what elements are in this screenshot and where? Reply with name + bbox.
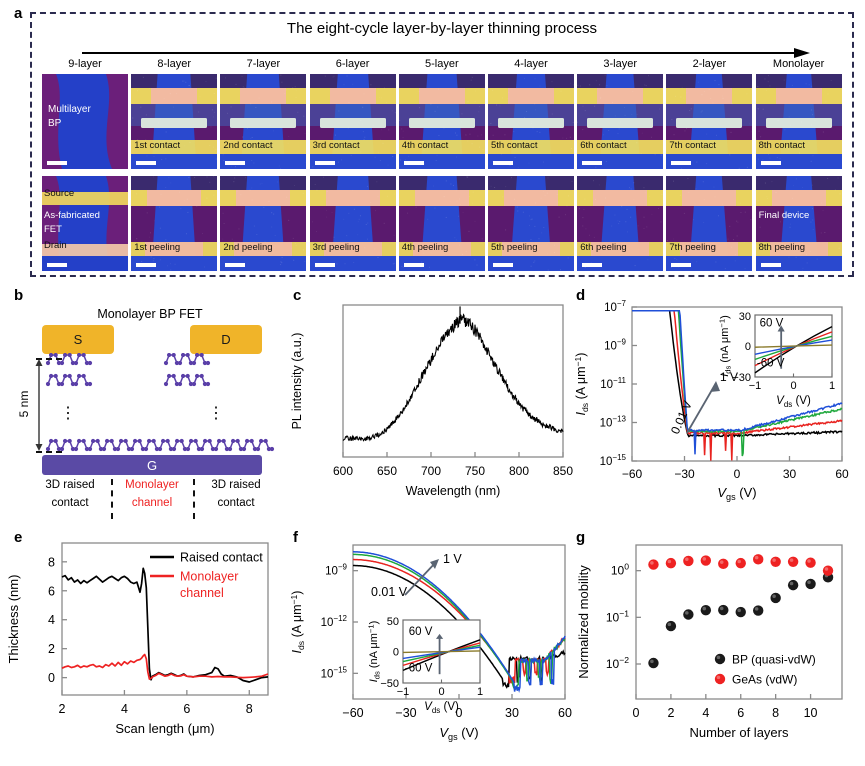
- panel-a-column-header: 2-layer: [660, 58, 758, 70]
- panel-a-column-header: Monolayer: [750, 58, 848, 70]
- micrograph-image: [399, 74, 485, 169]
- micrograph-step-caption: 6th peeling: [580, 242, 626, 253]
- bp-atomic-chain: [164, 374, 210, 386]
- data-point-bp: [805, 579, 815, 589]
- transfer-curve-plot-monolayer: −60−300306010−1510−1310−1110−910−7Vgs (V…: [570, 285, 865, 523]
- panel-d: d −60−300306010−1510−1310−1110−910−7Vgs …: [570, 285, 865, 523]
- inset-y-tick-label: 0: [393, 647, 399, 659]
- bias-annotation-low: 0.01 V: [371, 585, 408, 599]
- axis-label: Vgs (V): [717, 485, 756, 502]
- panel-d-letter: d: [576, 287, 585, 304]
- micrograph-overlay-label: As-fabricated: [44, 210, 100, 221]
- micrograph-overlay-label: FET: [44, 224, 62, 235]
- y-tick-label: 10−1: [606, 608, 629, 624]
- caption-left-line2: contact: [30, 497, 110, 509]
- micrograph-image: [577, 74, 663, 169]
- micrograph-overlay-label: Multilayer: [48, 104, 91, 115]
- axis-label: Vgs (V): [439, 725, 478, 742]
- thickness-arrow: [34, 359, 44, 451]
- micrograph-image: [131, 74, 217, 169]
- panel-b-title: Monolayer BP FET: [45, 307, 255, 321]
- legend-marker-bp: [715, 654, 725, 664]
- scale-bar: [47, 263, 67, 267]
- y-tick-label: 10−9: [604, 338, 626, 353]
- panel-a-column-header: 7-layer: [214, 58, 312, 70]
- micrograph-step-caption: 7th peeling: [669, 242, 715, 253]
- scale-bar: [315, 263, 335, 267]
- lattice-ellipsis-right: ⋮: [196, 403, 236, 423]
- bp-atomic-chain: [46, 374, 92, 386]
- panel-a-title: The eight-cycle layer-by-layer thinning …: [30, 20, 854, 37]
- legend-label: Monolayer: [180, 570, 238, 584]
- panel-a-column-header: 6-layer: [304, 58, 402, 70]
- micrograph-step-caption: 8th peeling: [759, 242, 805, 253]
- thickness-trace: [62, 655, 268, 680]
- micrograph-overlay-label: BP: [48, 118, 61, 129]
- bottom-thickness-marker: [36, 451, 62, 453]
- x-tick-label: −30: [674, 467, 695, 481]
- inset-x-tick-label: 0: [438, 686, 444, 698]
- pl-spectrum-plot: 600650700750800850Wavelength (nm)PL inte…: [285, 285, 585, 523]
- panel-a-letter: a: [14, 5, 22, 22]
- bias-annotation-high: 1 V: [443, 552, 462, 566]
- x-tick-label: 0: [633, 706, 640, 720]
- optical-micrograph: 4th contact: [399, 74, 485, 169]
- data-point-bp: [683, 609, 693, 619]
- micrograph-image: [756, 176, 842, 271]
- legend-marker-geas: [715, 674, 725, 684]
- x-tick-label: 2: [59, 702, 66, 716]
- micrograph-step-caption: 3rd peeling: [313, 242, 360, 253]
- inset-x-tick-label: 1: [829, 380, 835, 392]
- panel-g: g 024681010−210−1100Number of layersNorm…: [570, 523, 865, 761]
- channel-divider-right: [193, 479, 195, 519]
- data-point-geas: [683, 556, 693, 566]
- micrograph-step-caption: 8th contact: [759, 140, 805, 151]
- inset-y-axis-label: Ids (nA μm−1): [366, 621, 381, 683]
- panel-b-letter: b: [14, 287, 23, 304]
- panel-e: e 246802468Scan length (μm)Thickness (nm…: [0, 523, 290, 761]
- x-tick-label: −60: [622, 467, 643, 481]
- source-pad: S: [42, 325, 114, 354]
- data-point-bp: [648, 658, 658, 668]
- plot-frame: [62, 543, 268, 695]
- data-point-geas: [823, 565, 833, 575]
- data-point-geas: [666, 558, 676, 568]
- optical-micrograph: SourceAs-fabricatedFETDrain: [42, 176, 128, 271]
- y-axis-label: Thickness (nm): [6, 575, 21, 664]
- x-tick-label: 800: [509, 464, 529, 478]
- panel-a-column-header: 9-layer: [36, 58, 134, 70]
- pl-spectrum-trace: [343, 315, 563, 441]
- optical-micrograph: 1st peeling: [131, 176, 217, 271]
- data-point-geas: [648, 559, 658, 569]
- data-point-bp: [788, 580, 798, 590]
- data-point-bp: [753, 605, 763, 615]
- afm-thickness-profile-plot: 246802468Scan length (μm)Thickness (nm)R…: [0, 523, 290, 761]
- optical-micrograph: 3rd peeling: [310, 176, 396, 271]
- panel-a-column-header: 8-layer: [125, 58, 223, 70]
- optical-micrograph: 4th peeling: [399, 176, 485, 271]
- drain-pad-label: D: [221, 332, 230, 347]
- optical-micrograph: 1st contact: [131, 74, 217, 169]
- data-point-geas: [788, 557, 798, 567]
- inset-annotation-low: -60 V: [757, 358, 785, 370]
- micrograph-image: [666, 176, 752, 271]
- panel-a-column-header: 3-layer: [571, 58, 669, 70]
- x-axis-label: Number of layers: [690, 725, 789, 740]
- micrograph-image: [310, 176, 396, 271]
- x-tick-label: 6: [737, 706, 744, 720]
- gate-electrode: G: [42, 455, 262, 475]
- y-tick-label: 100: [611, 562, 629, 578]
- scale-bar: [225, 161, 245, 165]
- data-point-bp: [736, 607, 746, 617]
- scale-bar: [671, 263, 691, 267]
- panel-e-letter: e: [14, 529, 22, 546]
- data-point-bp: [770, 593, 780, 603]
- y-tick-label: 10−11: [600, 376, 626, 391]
- optical-micrograph: 3rd contact: [310, 74, 396, 169]
- optical-micrograph: MultilayerBP: [42, 74, 128, 169]
- optical-micrograph: 6th contact: [577, 74, 663, 169]
- optical-micrograph: Final device8th peeling: [756, 176, 842, 271]
- caption-center-line1: Monolayer: [113, 479, 191, 491]
- y-axis-label: Ids (A μm−1): [573, 353, 590, 416]
- transfer-curve-plot-ntype: −60−300306010−1510−1210−9Vgs (V)Ids (A μ…: [285, 523, 585, 761]
- x-tick-label: 30: [505, 706, 519, 720]
- scale-bar: [582, 263, 602, 267]
- micrograph-step-caption: 6th contact: [580, 140, 626, 151]
- micrograph-step-caption: 4th contact: [402, 140, 448, 151]
- data-point-geas: [701, 555, 711, 565]
- y-axis-label: PL intensity (a.u.): [290, 333, 304, 430]
- inset-y-tick-label: 0: [745, 341, 751, 353]
- x-axis-label: Scan length (μm): [115, 721, 214, 736]
- x-tick-label: 30: [783, 467, 797, 481]
- micrograph-step-caption: 4th peeling: [402, 242, 448, 253]
- scale-bar: [493, 161, 513, 165]
- x-tick-label: 650: [377, 464, 397, 478]
- y-tick-label: 10−13: [600, 415, 627, 430]
- inset-y-tick-label: −50: [380, 678, 399, 690]
- y-tick-label: 8: [48, 555, 55, 569]
- x-tick-label: 700: [421, 464, 441, 478]
- optical-micrograph: 7th peeling: [666, 176, 752, 271]
- bp-atomic-chain: [46, 439, 274, 451]
- scale-bar: [493, 263, 513, 267]
- drain-pad: D: [190, 325, 262, 354]
- micrograph-step-caption: 1st peeling: [134, 242, 180, 253]
- legend-label: Raised contact: [180, 551, 263, 565]
- y-tick-label: 10−2: [606, 655, 629, 671]
- inset-annotation-high: 60 V: [409, 626, 433, 638]
- data-point-bp: [701, 605, 711, 615]
- source-pad-label: S: [74, 332, 83, 347]
- y-tick-label: 10−7: [604, 299, 626, 314]
- x-tick-label: 600: [333, 464, 353, 478]
- optical-micrograph: 5th contact: [488, 74, 574, 169]
- x-tick-label: 8: [246, 702, 253, 716]
- axis-label: Vds (V): [424, 701, 459, 715]
- scale-bar: [136, 263, 156, 267]
- y-axis-label: Normalized mobility: [576, 565, 591, 679]
- legend-label: GeAs (vdW): [732, 673, 797, 687]
- panel-a-column-header: 4-layer: [482, 58, 580, 70]
- process-direction-arrow: [82, 46, 810, 58]
- scale-bar: [761, 263, 781, 267]
- x-tick-label: 6: [183, 702, 190, 716]
- y-tick-label: 2: [48, 642, 55, 656]
- micrograph-step-caption: 2nd contact: [223, 140, 272, 151]
- micrograph-step-caption: 3rd contact: [313, 140, 360, 151]
- micrograph-image: [220, 74, 306, 169]
- x-tick-label: 750: [465, 464, 485, 478]
- data-point-geas: [770, 557, 780, 567]
- micrograph-image: [131, 176, 217, 271]
- y-tick-label: 10−12: [321, 614, 348, 629]
- x-tick-label: 4: [121, 702, 128, 716]
- y-tick-label: 0: [48, 671, 55, 685]
- y-tick-label: 6: [48, 584, 55, 598]
- scale-bar: [404, 161, 424, 165]
- data-point-bp: [666, 621, 676, 631]
- x-tick-label: 60: [835, 467, 849, 481]
- scale-bar: [47, 161, 67, 165]
- y-tick-label: 10−15: [600, 453, 627, 468]
- micrograph-image: [399, 176, 485, 271]
- x-tick-label: 8: [772, 706, 779, 720]
- data-point-geas: [753, 554, 763, 564]
- panel-f-letter: f: [293, 529, 298, 546]
- optical-micrograph: 7th contact: [666, 74, 752, 169]
- micrograph-image: [577, 176, 663, 271]
- panel-f: f −60−300306010−1510−1210−9Vgs (V)Ids (A…: [285, 523, 585, 761]
- normalized-mobility-plot: 024681010−210−1100Number of layersNormal…: [570, 523, 865, 761]
- y-tick-label: 4: [48, 613, 55, 627]
- micrograph-image: [666, 74, 752, 169]
- micrograph-image: [756, 74, 842, 169]
- y-tick-label: 10−9: [325, 563, 347, 578]
- lattice-ellipsis-left: ⋮: [48, 403, 88, 423]
- axis-label: Vds (V): [776, 395, 811, 409]
- gate-label: G: [147, 458, 157, 473]
- panel-g-letter: g: [576, 529, 585, 546]
- inset-y-tick-label: 50: [387, 616, 399, 628]
- micrograph-overlay-label: Source: [44, 188, 74, 199]
- optical-micrograph: 8th contact: [756, 74, 842, 169]
- legend-label: channel: [180, 586, 224, 600]
- legend-label: BP (quasi-vdW): [732, 653, 816, 667]
- inset-x-tick-label: 0: [790, 380, 796, 392]
- optical-micrograph: 2nd peeling: [220, 176, 306, 271]
- scale-bar: [225, 263, 245, 267]
- panel-a: a The eight-cycle layer-by-layer thinnin…: [0, 0, 865, 285]
- inset-y-axis-label: Ids (nA μm−1): [717, 315, 732, 377]
- inset-x-tick-label: 1: [477, 686, 483, 698]
- inset-annotation-high: 60 V: [760, 317, 784, 329]
- micrograph-image: [310, 74, 396, 169]
- micrograph-image: [488, 74, 574, 169]
- scale-bar: [136, 161, 156, 165]
- panel-c: c 600650700750800850Wavelength (nm)PL in…: [285, 285, 585, 523]
- scale-bar: [315, 161, 335, 165]
- scale-bar: [582, 161, 602, 165]
- optical-micrograph: 2nd contact: [220, 74, 306, 169]
- data-point-geas: [718, 559, 728, 569]
- x-tick-label: −30: [395, 706, 416, 720]
- inset-y-tick-label: 30: [739, 311, 751, 323]
- caption-left-line1: 3D raised: [30, 479, 110, 491]
- panel-b: b Monolayer BP FET S D 5 nm ⋮ ⋮ G 3D rai…: [0, 285, 290, 523]
- micrograph-step-caption: 5th contact: [491, 140, 537, 151]
- thickness-label: 5 nm: [17, 374, 31, 434]
- panel-a-column-header: 5-layer: [393, 58, 491, 70]
- caption-right-line1: 3D raised: [196, 479, 276, 491]
- bp-atomic-chain: [164, 353, 210, 365]
- y-axis-label: Ids (A μm−1): [289, 591, 306, 654]
- bias-sweep-arrowhead: [710, 381, 720, 392]
- x-axis-label: Wavelength (nm): [406, 484, 501, 498]
- scale-bar: [671, 161, 691, 165]
- x-tick-label: 0: [734, 467, 741, 481]
- micrograph-step-caption: 1st contact: [134, 140, 180, 151]
- caption-right-line2: contact: [196, 497, 276, 509]
- inset-y-tick-label: −30: [732, 372, 751, 384]
- micrograph-step-caption: 5th peeling: [491, 242, 537, 253]
- data-point-geas: [805, 558, 815, 568]
- micrograph-step-caption: 2nd peeling: [223, 242, 272, 253]
- optical-micrograph: 5th peeling: [488, 176, 574, 271]
- micrograph-overlay-label: Final device: [759, 210, 810, 221]
- inset-annotation-low: -60 V: [405, 663, 433, 675]
- micrograph-step-caption: 7th contact: [669, 140, 715, 151]
- caption-center-line2: channel: [113, 497, 191, 509]
- micrograph-image: [220, 176, 306, 271]
- micrograph-image: [488, 176, 574, 271]
- scale-bar: [404, 263, 424, 267]
- optical-micrograph: 6th peeling: [577, 176, 663, 271]
- micrograph-overlay-label: Drain: [44, 240, 67, 251]
- y-tick-label: 10−15: [321, 665, 348, 680]
- x-tick-label: 2: [667, 706, 674, 720]
- x-tick-label: −60: [342, 706, 363, 720]
- x-tick-label: 4: [702, 706, 709, 720]
- scale-bar: [761, 161, 781, 165]
- panel-c-letter: c: [293, 287, 301, 304]
- x-tick-label: 10: [804, 706, 818, 720]
- data-point-bp: [718, 605, 728, 615]
- data-point-geas: [736, 558, 746, 568]
